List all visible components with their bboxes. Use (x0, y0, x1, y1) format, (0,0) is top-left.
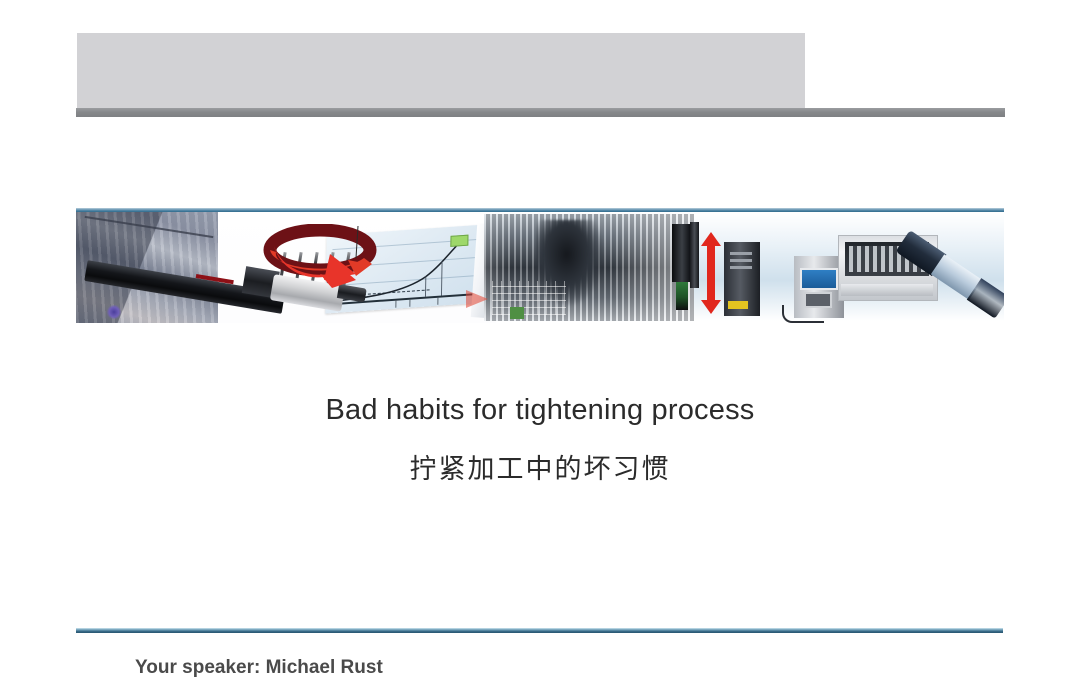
banner-panel-machinery (484, 214, 694, 321)
controller-cabinet-mid (794, 256, 844, 318)
spindle-secondary-column (690, 222, 699, 288)
spindle-black-column (672, 224, 690, 282)
spindle-tool-tip (676, 282, 688, 310)
tightening-technology-banner (76, 208, 1004, 323)
curve-target-marker (450, 235, 468, 247)
machinery-green-part (510, 307, 524, 319)
header-plate (77, 33, 805, 108)
banner-top-rule (76, 208, 1004, 212)
rack-base (841, 284, 933, 296)
slide-title-english: Bad habits for tightening process (0, 394, 1080, 427)
cabinet-yellow-label (728, 301, 748, 309)
red-rotation-arrow-icon (260, 224, 380, 298)
machinery-grid (492, 281, 566, 315)
speaker-label: Your speaker: Michael Rust (135, 657, 383, 679)
header-rule (76, 108, 1005, 117)
red-flow-arrow-icon (466, 290, 488, 308)
footer-rule (76, 628, 1003, 633)
slide-title-chinese: 拧紧加工中的坏习惯 (0, 447, 1080, 486)
controller-display (800, 268, 838, 290)
blue-highlight-spot (106, 305, 122, 319)
controller-cabinet-dark (724, 242, 760, 316)
presentation-slide: Bad habits for tightening process 拧紧加工中的… (0, 0, 1080, 697)
controller-slot (804, 292, 832, 308)
red-vertical-double-arrow-icon (700, 232, 722, 314)
